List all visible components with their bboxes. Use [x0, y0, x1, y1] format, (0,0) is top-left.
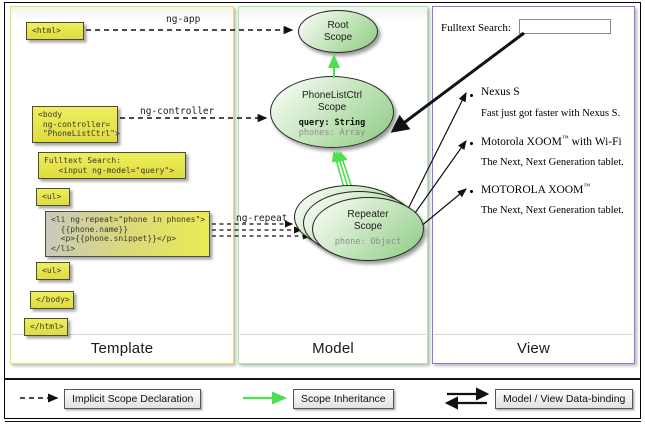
panel-template-label: Template	[11, 340, 233, 357]
trademark-icon: ™	[583, 182, 590, 190]
html-close-tag-box: </html>	[24, 318, 68, 336]
search-input-markup-box: Fulltext Search: <input ng-model="query"…	[38, 152, 186, 179]
phonelistctrl-prop-phones: phones: Array	[271, 128, 393, 138]
panel-model-divider	[240, 334, 426, 335]
legend-item-implicit-scope-declaration: Implicit Scope Declaration	[64, 389, 201, 409]
repeater-scope-label: Repeater Scope	[313, 198, 423, 232]
repeater-scope-ellipse: Repeater Scope phone: Object	[312, 197, 424, 261]
phone-snippet-1: The Next, Next Generation tablet.	[481, 157, 624, 168]
legend-bottom-rule	[5, 421, 641, 422]
phone-snippet-2: The Next, Next Generation tablet.	[481, 205, 624, 216]
phone-name-2: MOTOROLA XOOM™	[481, 182, 590, 196]
list-bullet-icon	[470, 190, 473, 193]
panel-model: Model	[238, 6, 428, 364]
phone-name-0: Nexus S	[481, 86, 520, 98]
panel-view-divider	[434, 334, 633, 335]
legend-item-model-view-data-binding: Model / View Data-binding	[495, 389, 633, 409]
phonelistctrl-prop-query: query: String	[271, 118, 393, 128]
ul-close-tag-box: <ul>	[36, 262, 70, 280]
legend-item-scope-inheritance: Scope Inheritance	[293, 389, 394, 409]
phone-name-1: Motorola XOOM™ with Wi-Fi	[481, 134, 622, 148]
phonelistctrl-scope-label: PhoneListCtrl Scope	[271, 77, 393, 113]
panel-model-label: Model	[239, 340, 427, 357]
diagram-root: Template <html> <body ng-controller= "Ph…	[0, 0, 645, 425]
phone-name-1-text: Motorola XOOM	[481, 136, 562, 148]
ul-open-tag-box: <ul>	[36, 188, 70, 206]
phone-snippet-0: Fast just got faster with Nexus S.	[481, 108, 620, 119]
phone-name-2-text: MOTOROLA XOOM	[481, 184, 583, 196]
ng-repeat-label: ng-repeat	[236, 213, 287, 224]
list-bullet-icon	[470, 94, 473, 97]
phone-name-1-suffix: with Wi-Fi	[569, 136, 622, 148]
trademark-icon: ™	[562, 134, 569, 142]
li-repeat-markup-box: <li ng-repeat="phone in phones"> {{phone…	[45, 211, 210, 257]
ng-controller-label: ng-controller	[140, 106, 214, 117]
body-open-tag-box: <body ng-controller= "PhoneListCtrl">	[32, 106, 118, 143]
legend-top-rule	[5, 378, 641, 380]
body-close-tag-box: </body>	[30, 291, 74, 309]
list-bullet-icon	[470, 142, 473, 145]
phonelistctrl-scope-ellipse: PhoneListCtrl Scope query: String phones…	[270, 76, 394, 148]
fulltext-search-label: Fulltext Search:	[441, 22, 511, 34]
panel-model-bg	[239, 7, 427, 363]
root-scope-ellipse: Root Scope	[298, 10, 378, 53]
panel-template: Template	[10, 6, 234, 364]
repeater-prop-phone: phone: Object	[313, 237, 423, 247]
fulltext-search-input[interactable]	[519, 19, 611, 34]
panel-view-label: View	[433, 340, 634, 357]
html-open-tag-box: <html>	[26, 22, 84, 40]
ng-app-label: ng-app	[166, 14, 200, 25]
root-scope-label: Root Scope	[299, 11, 377, 43]
panel-template-bg	[11, 7, 233, 363]
